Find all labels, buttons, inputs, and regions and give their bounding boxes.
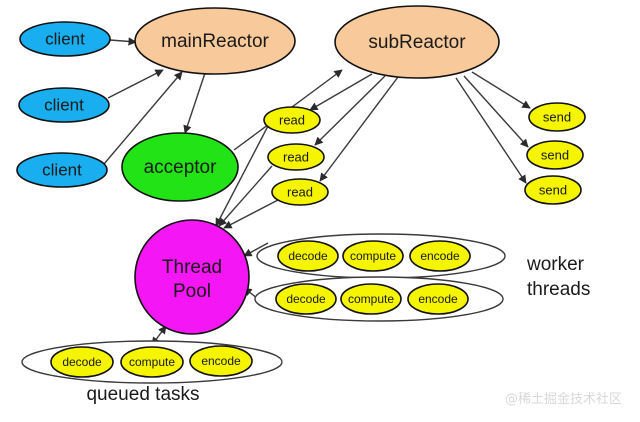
task-compute[interactable]: compute xyxy=(343,241,403,271)
send-ellipse[interactable] xyxy=(525,176,581,204)
diagram-canvas: client client client mainReactor subReac… xyxy=(0,0,640,422)
node-send-1[interactable]: send xyxy=(529,103,585,131)
task-ellipse[interactable] xyxy=(341,284,401,314)
task-ellipse[interactable] xyxy=(121,347,183,377)
client-ellipse[interactable] xyxy=(20,22,110,56)
node-read-1[interactable]: read xyxy=(264,107,320,133)
edge-mainreactor-to-acceptor xyxy=(185,73,205,133)
node-sub-reactor[interactable]: subReactor xyxy=(335,6,499,78)
task-decode[interactable]: decode xyxy=(51,347,113,377)
thread-pool-circle[interactable] xyxy=(135,220,249,334)
task-encode[interactable]: encode xyxy=(408,284,468,314)
edge-read3-to-threadpool xyxy=(224,200,278,228)
edge-subreactor-to-send3 xyxy=(456,78,526,183)
node-acceptor[interactable]: acceptor xyxy=(122,133,238,201)
sub-reactor-ellipse[interactable] xyxy=(335,6,499,78)
client-ellipse[interactable] xyxy=(19,88,109,122)
queued-tasks-caption: queued tasks xyxy=(86,384,199,405)
edge-client2-to-mainreactor xyxy=(108,70,163,98)
task-decode[interactable]: decode xyxy=(276,284,336,314)
worker-threads-caption-line2: threads xyxy=(527,279,590,300)
main-reactor-ellipse[interactable] xyxy=(135,8,295,74)
task-ellipse[interactable] xyxy=(278,241,338,271)
edge-client1-to-mainreactor xyxy=(110,40,136,42)
task-decode[interactable]: decode xyxy=(278,241,338,271)
reactor-architecture-diagram: client client client mainReactor subReac… xyxy=(0,0,640,422)
node-read-3[interactable]: read xyxy=(272,179,328,205)
read-ellipse[interactable] xyxy=(272,179,328,205)
send-ellipse[interactable] xyxy=(527,141,583,169)
task-encode[interactable]: encode xyxy=(410,241,470,271)
task-ellipse[interactable] xyxy=(276,284,336,314)
worker-threads-caption-line1: worker xyxy=(526,254,585,275)
task-ellipse[interactable] xyxy=(343,241,403,271)
send-ellipse[interactable] xyxy=(529,103,585,131)
node-client-3[interactable]: client xyxy=(17,153,107,187)
client-ellipse[interactable] xyxy=(17,153,107,187)
task-encode[interactable]: encode xyxy=(190,346,252,376)
node-main-reactor[interactable]: mainReactor xyxy=(135,8,295,74)
task-ellipse[interactable] xyxy=(51,347,113,377)
queued-tasks-group: decode compute encode xyxy=(51,346,252,377)
node-send-2[interactable]: send xyxy=(527,141,583,169)
task-ellipse[interactable] xyxy=(410,241,470,271)
task-ellipse[interactable] xyxy=(408,284,468,314)
worker-thread-row-2: decode compute encode xyxy=(276,284,468,314)
node-read-2[interactable]: read xyxy=(268,144,324,170)
task-compute[interactable]: compute xyxy=(121,347,183,377)
acceptor-ellipse[interactable] xyxy=(122,133,238,201)
node-send-3[interactable]: send xyxy=(525,176,581,204)
node-client-2[interactable]: client xyxy=(19,88,109,122)
node-client-1[interactable]: client xyxy=(20,22,110,56)
edge-subreactor-to-send1 xyxy=(472,72,530,108)
read-ellipse[interactable] xyxy=(264,107,320,133)
edge-subreactor-to-read1 xyxy=(310,74,372,110)
node-thread-pool[interactable]: Thread Pool xyxy=(135,220,249,334)
task-ellipse[interactable] xyxy=(190,346,252,376)
watermark-text: @稀土掘金技术社区 xyxy=(505,391,622,407)
task-compute[interactable]: compute xyxy=(341,284,401,314)
worker-thread-row-1: decode compute encode xyxy=(278,241,470,271)
read-ellipse[interactable] xyxy=(268,144,324,170)
